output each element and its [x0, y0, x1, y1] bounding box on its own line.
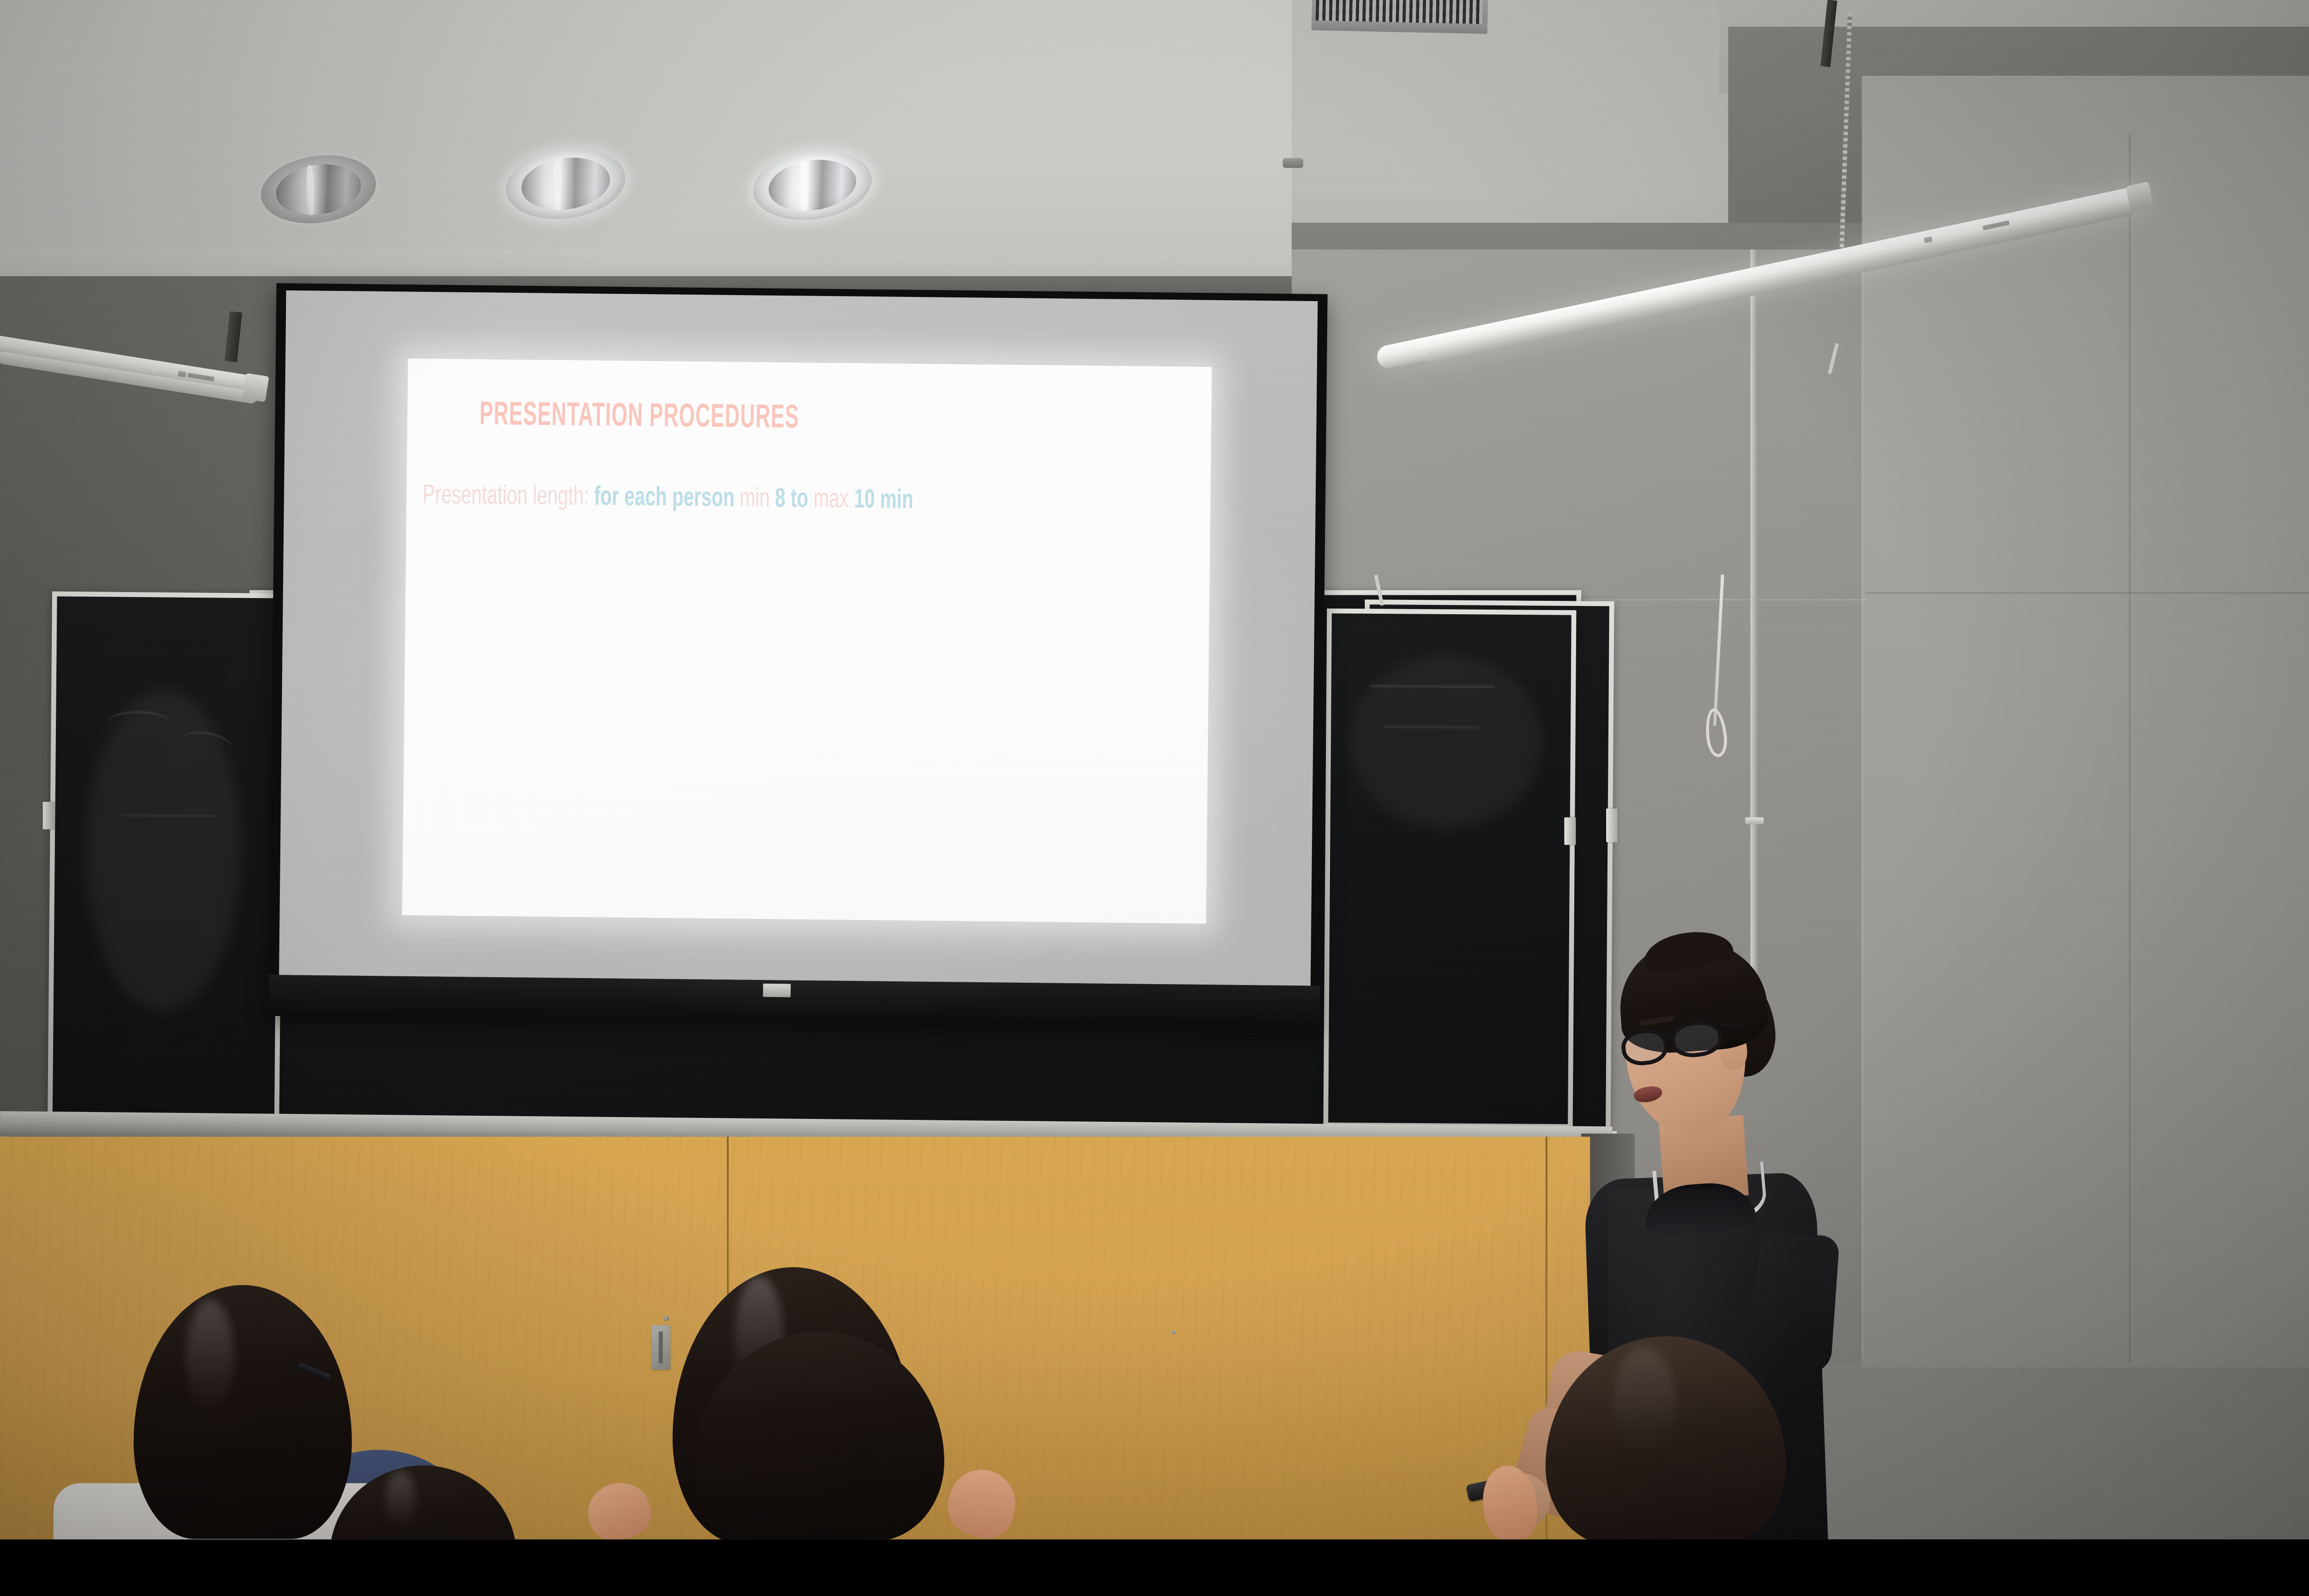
blackboard-right-front[interactable]: [1323, 609, 1576, 1129]
blackboard-surface-right-front: [1328, 613, 1572, 1124]
student-2-hair-highlight: [386, 1471, 416, 1530]
slide-seg-5: max: [813, 483, 854, 514]
fixture-endcap: [242, 373, 269, 402]
wall-seam-horizontal-2: [1866, 592, 2309, 594]
student-5-hair-highlight: [1613, 1347, 1675, 1456]
slide-seg-4: 8 to: [775, 483, 814, 513]
slide-seg-2: for each person: [594, 481, 740, 512]
glasses-lens-right: [1669, 1018, 1724, 1060]
slide-seg-6: 10 min: [854, 484, 913, 514]
student-4-hair: [695, 1332, 944, 1539]
screen-pole[interactable]: [1751, 249, 1758, 1029]
wood-screw-1: [664, 1316, 669, 1321]
wall-seam-vertical-2: [2129, 133, 2130, 1363]
ceiling-panel-main: [0, 0, 1305, 285]
wood-screw-4: [1172, 1330, 1176, 1335]
hvac-vent-icon: [1312, 0, 1488, 34]
student-1-hair: [133, 1285, 352, 1539]
student-4-head: [695, 1332, 944, 1539]
wall-outlet-plate: [652, 1325, 671, 1369]
lecture-hall-scene: PRESENTATION PROCEDURES Presentation len…: [0, 0, 2309, 1539]
blackboard-left[interactable]: [48, 592, 284, 1121]
blackboard-hinge-left: [43, 802, 54, 829]
slide-title: PRESENTATION PROCEDURES: [479, 394, 799, 435]
screen-surface: PRESENTATION PROCEDURES Presentation len…: [279, 290, 1318, 986]
slide-body-text: Presentation length: for each person min…: [423, 478, 913, 514]
right-wall-far: [1862, 76, 2309, 1367]
blackboard-hinge-right-2: [1606, 809, 1618, 842]
blackboard-surface-left: [53, 596, 279, 1116]
student-2-head: [330, 1465, 517, 1539]
pole-collar: [1745, 817, 1764, 824]
fixture-indicator: [177, 371, 186, 377]
student-5-head: [1546, 1336, 1786, 1540]
screen-pull-tab[interactable]: [763, 984, 791, 997]
slide-seg-3: min: [740, 482, 775, 512]
glasses-lens-left: [1620, 1027, 1670, 1068]
ceiling-fitting: [1283, 158, 1303, 168]
student-1-head: [133, 1285, 352, 1539]
glasses-temple: [1718, 1022, 1744, 1028]
projection-screen[interactable]: PRESENTATION PROCEDURES Presentation len…: [269, 283, 1328, 1027]
projected-slide: PRESENTATION PROCEDURES Presentation len…: [402, 358, 1212, 924]
student-1-hair-highlight: [186, 1300, 234, 1417]
blackboard-hinge-right-1: [1564, 817, 1576, 845]
vent-louvers: [1316, 0, 1483, 24]
student-2-hair: [330, 1465, 517, 1539]
slide-seg-1: Presentation length:: [423, 479, 594, 511]
